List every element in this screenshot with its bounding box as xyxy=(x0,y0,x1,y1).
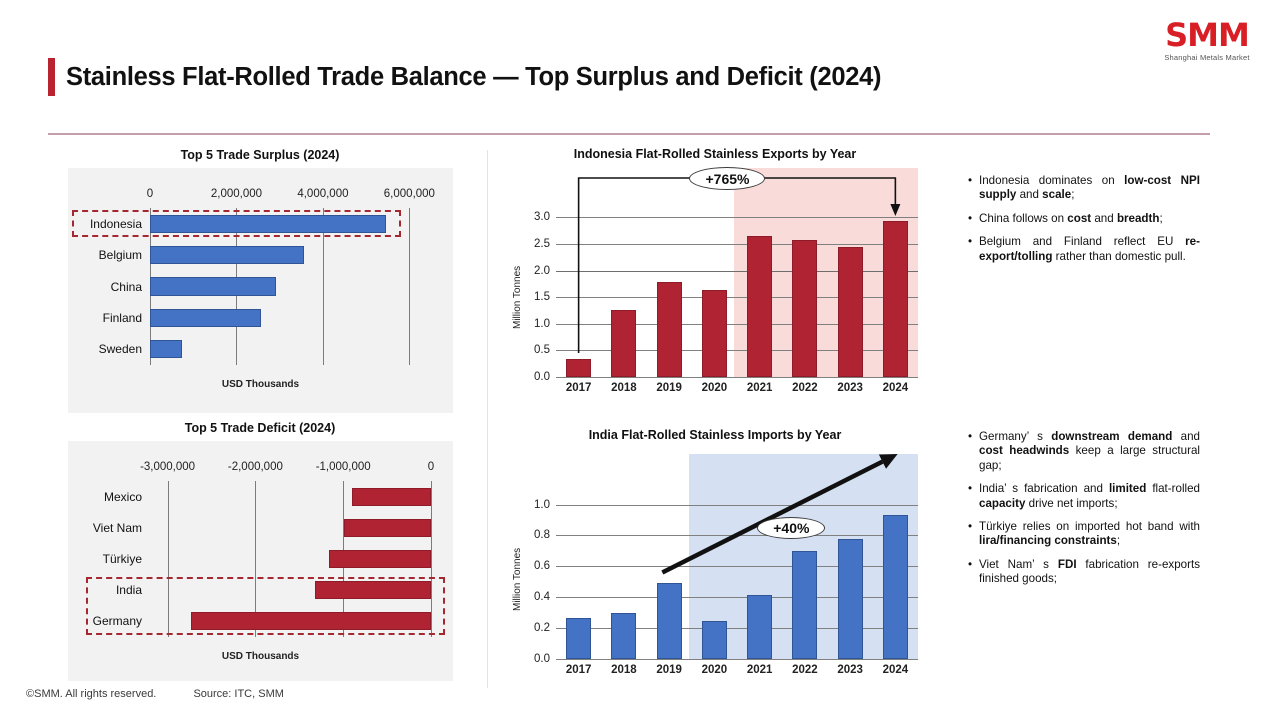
x-axis-tick-label: 2,000,000 xyxy=(211,188,262,200)
category-label: Indonesia xyxy=(68,217,142,231)
y-axis-tick-label: 0.0 xyxy=(534,653,550,665)
category-label: Sweden xyxy=(68,342,142,356)
bullet-icon: • xyxy=(968,235,979,264)
chart-gridline xyxy=(556,297,918,298)
bar xyxy=(611,310,636,377)
list-item: •Viet Nam’ s FDI fabrication re-exports … xyxy=(968,558,1200,587)
chart-gridline xyxy=(168,481,169,637)
y-axis-tick-label: 0.2 xyxy=(534,622,550,634)
bar xyxy=(702,621,727,659)
x-axis-tick-label: 2021 xyxy=(747,377,773,394)
chart-panel-surplus: 02,000,0004,000,0006,000,000IndonesiaBel… xyxy=(68,168,453,413)
chart-gridline xyxy=(556,244,918,245)
x-axis-tick-label: 2024 xyxy=(883,659,909,676)
chart-indonesia-exports: 0.00.51.01.52.02.53.02017201820192020202… xyxy=(510,168,920,403)
x-axis-tick-label: 2023 xyxy=(837,659,863,676)
x-axis-tick-label: 4,000,000 xyxy=(297,188,348,200)
chart-title-deficit: Top 5 Trade Deficit (2024) xyxy=(60,421,460,435)
notes-surplus-list: •Indonesia dominates on low-cost NPI sup… xyxy=(968,174,1200,273)
bar xyxy=(150,309,261,327)
list-item-text: India’ s fabrication and limited flat-ro… xyxy=(979,482,1200,511)
bar xyxy=(329,550,431,568)
bar xyxy=(792,551,817,659)
plot-area: 0.00.20.40.60.81.02017201820192020202120… xyxy=(556,486,918,659)
y-axis-tick-label: 0.5 xyxy=(534,344,550,356)
list-item: •Türkiye relies on imported hot band wit… xyxy=(968,520,1200,549)
bar xyxy=(352,488,431,506)
x-axis-tick-label: 2022 xyxy=(792,659,818,676)
chart-gridline xyxy=(431,481,432,637)
bar xyxy=(566,618,591,659)
growth-callout: +765% xyxy=(689,167,765,190)
chart-india-imports: 0.00.20.40.60.81.02017201820192020202120… xyxy=(510,450,920,685)
bar xyxy=(838,247,863,377)
chart-gridline xyxy=(556,505,918,506)
x-axis-tick-label: -2,000,000 xyxy=(228,461,283,473)
x-axis-tick-label: -3,000,000 xyxy=(140,461,195,473)
x-axis-tick-label: 2017 xyxy=(566,659,592,676)
category-label: China xyxy=(68,280,142,294)
x-axis-tick-label: 2018 xyxy=(611,377,637,394)
x-axis-tick-label: 2020 xyxy=(702,377,728,394)
bullet-icon: • xyxy=(968,520,979,549)
bar xyxy=(747,236,772,377)
bar xyxy=(702,290,727,377)
bullet-icon: • xyxy=(968,558,979,587)
smm-logo-wordmark: SMM xyxy=(1148,18,1266,52)
list-item: •Belgium and Finland reflect EU re-expor… xyxy=(968,235,1200,264)
plot-area: 0.00.51.01.52.02.53.02017201820192020202… xyxy=(556,204,918,377)
category-label: Türkiye xyxy=(68,552,142,566)
footer-copyright: ©SMM. All rights reserved. xyxy=(26,688,156,700)
footer: ©SMM. All rights reserved. Source: ITC, … xyxy=(26,688,284,700)
bullet-icon: • xyxy=(968,430,979,473)
x-axis-title: USD Thousands xyxy=(68,651,453,662)
list-item: •Indonesia dominates on low-cost NPI sup… xyxy=(968,174,1200,203)
chart-title-indonesia-exports: Indonesia Flat-Rolled Stainless Exports … xyxy=(500,147,930,161)
bar xyxy=(344,519,431,537)
y-axis-title: Million Tonnes xyxy=(512,547,523,610)
chart-gridline xyxy=(556,271,918,272)
bar xyxy=(611,613,636,659)
category-label: Mexico xyxy=(68,490,142,504)
bar xyxy=(883,221,908,377)
list-item-text: Viet Nam’ s FDI fabrication re-exports f… xyxy=(979,558,1200,587)
chart-gridline xyxy=(556,566,918,567)
list-item-text: Belgium and Finland reflect EU re-export… xyxy=(979,235,1200,264)
title-accent-bar xyxy=(48,58,55,96)
x-axis-tick-label: 0 xyxy=(428,461,434,473)
bar xyxy=(792,240,817,377)
chart-panel-deficit: -3,000,000-2,000,000-1,000,0000MexicoVie… xyxy=(68,441,453,681)
x-axis-tick-label: 2024 xyxy=(883,377,909,394)
notes-deficit-list: •Germany’ s downstream demand and cost h… xyxy=(968,430,1200,596)
bar xyxy=(315,581,431,599)
chart-gridline xyxy=(556,350,918,351)
x-axis-tick-label: 0 xyxy=(147,188,153,200)
header-divider xyxy=(48,133,1210,135)
x-axis-tick-label: 2019 xyxy=(656,659,682,676)
bar xyxy=(150,246,304,264)
x-axis-tick-label: 6,000,000 xyxy=(384,188,435,200)
y-axis-tick-label: 3.0 xyxy=(534,211,550,223)
panel-divider xyxy=(487,150,488,688)
category-label: Belgium xyxy=(68,248,142,262)
growth-callout: +40% xyxy=(757,517,825,539)
category-label: Viet Nam xyxy=(68,521,142,535)
x-axis-tick-label: -1,000,000 xyxy=(316,461,371,473)
bullet-icon: • xyxy=(968,212,979,226)
page-title: Stainless Flat-Rolled Trade Balance — To… xyxy=(66,60,1066,94)
y-axis-tick-label: 1.0 xyxy=(534,499,550,511)
chart-title-india-imports: India Flat-Rolled Stainless Imports by Y… xyxy=(500,428,930,442)
list-item: •India’ s fabrication and limited flat-r… xyxy=(968,482,1200,511)
y-axis-title: Million Tonnes xyxy=(512,265,523,328)
y-axis-tick-label: 2.0 xyxy=(534,265,550,277)
footer-source: Source: ITC, SMM xyxy=(193,688,283,700)
chart-gridline xyxy=(556,628,918,629)
category-label: Germany xyxy=(68,614,142,628)
y-axis-tick-label: 2.5 xyxy=(534,238,550,250)
list-item-text: Indonesia dominates on low-cost NPI supp… xyxy=(979,174,1200,203)
chart-gridline xyxy=(556,217,918,218)
list-item: •China follows on cost and breadth; xyxy=(968,212,1200,226)
chart-gridline xyxy=(556,597,918,598)
bullet-icon: • xyxy=(968,174,979,203)
x-axis-tick-label: 2020 xyxy=(702,659,728,676)
category-label: Finland xyxy=(68,311,142,325)
bar xyxy=(883,515,908,659)
y-axis-tick-label: 1.0 xyxy=(534,318,550,330)
bar xyxy=(191,612,431,630)
chart-gridline xyxy=(556,535,918,536)
x-axis-tick-label: 2022 xyxy=(792,377,818,394)
chart-title-surplus: Top 5 Trade Surplus (2024) xyxy=(60,148,460,162)
y-axis-tick-label: 1.5 xyxy=(534,291,550,303)
bar xyxy=(657,583,682,659)
smm-logo: SMM Shanghai Metals Market xyxy=(1148,18,1266,70)
bar xyxy=(150,277,276,295)
chart-gridline xyxy=(409,208,410,365)
list-item-text: China follows on cost and breadth; xyxy=(979,212,1200,226)
bar xyxy=(150,340,182,358)
category-label: India xyxy=(68,583,142,597)
list-item-text: Türkiye relies on imported hot band with… xyxy=(979,520,1200,549)
y-axis-tick-label: 0.8 xyxy=(534,529,550,541)
bar xyxy=(838,539,863,659)
y-axis-tick-label: 0.4 xyxy=(534,591,550,603)
x-axis-tick-label: 2021 xyxy=(747,659,773,676)
list-item-text: Germany’ s downstream demand and cost he… xyxy=(979,430,1200,473)
x-axis-tick-label: 2023 xyxy=(837,377,863,394)
bar xyxy=(150,215,386,233)
bar xyxy=(657,282,682,377)
list-item: •Germany’ s downstream demand and cost h… xyxy=(968,430,1200,473)
x-axis-tick-label: 2019 xyxy=(656,377,682,394)
x-axis-tick-label: 2018 xyxy=(611,659,637,676)
x-axis-title: USD Thousands xyxy=(68,379,453,390)
chart-gridline xyxy=(556,324,918,325)
y-axis-tick-label: 0.0 xyxy=(534,371,550,383)
bar xyxy=(566,359,591,377)
y-axis-tick-label: 0.6 xyxy=(534,560,550,572)
bar xyxy=(747,595,772,659)
bullet-icon: • xyxy=(968,482,979,511)
x-axis-tick-label: 2017 xyxy=(566,377,592,394)
smm-logo-subtitle: Shanghai Metals Market xyxy=(1148,53,1266,62)
